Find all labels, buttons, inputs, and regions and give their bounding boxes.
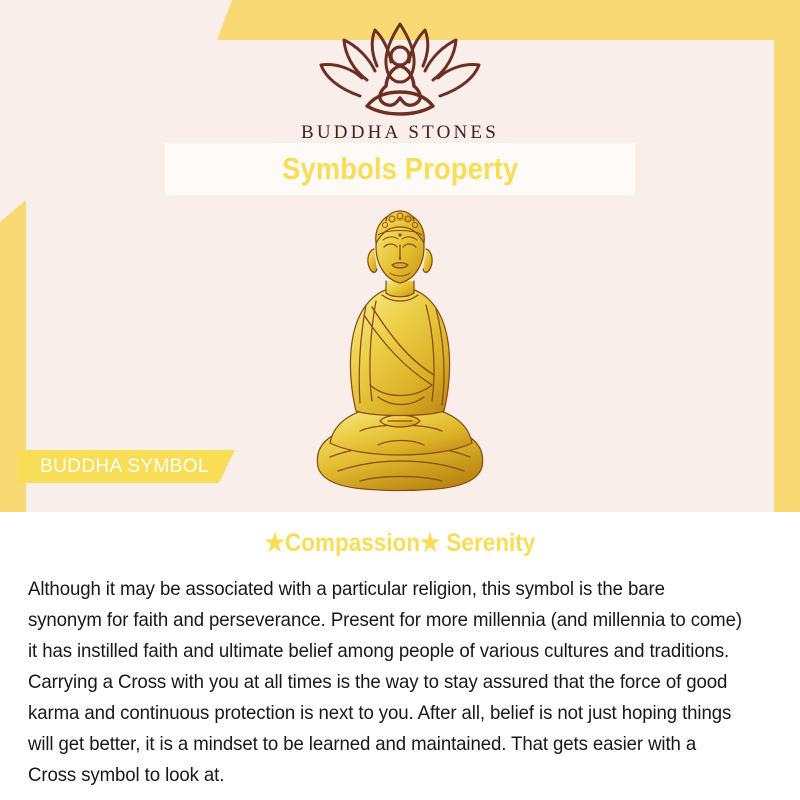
lotus-meditation-figure-icon xyxy=(315,18,485,116)
buddha-symbol-tag: BUDDHA SYMBOL xyxy=(18,450,235,483)
brand-header: BUDDHA STONES xyxy=(0,18,800,144)
subtitle-compassion: Compassion xyxy=(285,529,420,557)
subtitle-serenity: Serenity xyxy=(446,529,535,557)
page-title: Symbols Property xyxy=(282,151,518,187)
subtitle: ★Compassion★ Serenity xyxy=(65,528,735,558)
buddha-symbol-tag-label: BUDDHA SYMBOL xyxy=(40,456,209,478)
golden-seated-buddha-meditation-icon xyxy=(300,205,500,495)
star-icon-1: ★ xyxy=(265,529,285,557)
star-icon-2: ★ xyxy=(420,529,440,557)
title-banner: Symbols Property xyxy=(165,143,635,195)
body-paragraph: Although it may be associated with a par… xyxy=(28,574,742,791)
poster-canvas: BUDDHA STONES Symbols Property xyxy=(0,0,800,800)
brand-name: BUDDHA STONES xyxy=(0,122,800,144)
content-section: ★Compassion★ Serenity Although it may be… xyxy=(0,512,800,800)
